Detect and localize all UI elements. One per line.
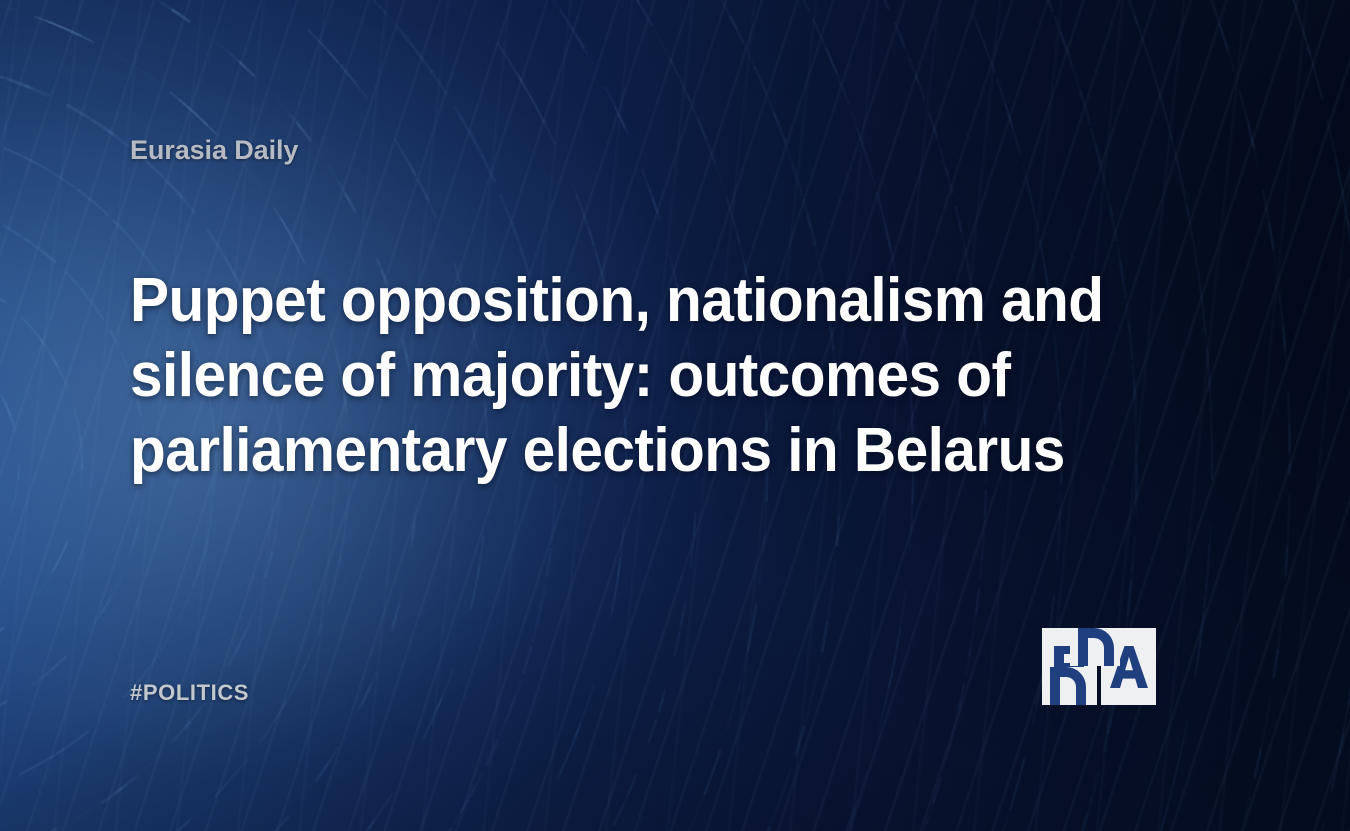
ead-logo[interactable] <box>1042 628 1238 705</box>
logo-tile-d-bottom <box>1042 667 1120 705</box>
logo-tile-d-top <box>1042 628 1120 666</box>
category-tag-politics[interactable]: #POLITICS <box>130 680 249 706</box>
logo-tile-d-split <box>1160 628 1238 705</box>
card-content: Eurasia Daily Puppet opposition, nationa… <box>0 0 1350 831</box>
social-share-card: Eurasia Daily Puppet opposition, nationa… <box>0 0 1350 831</box>
site-name: Eurasia Daily <box>130 135 298 166</box>
page-title: Puppet opposition, nationalism and silen… <box>130 263 1179 488</box>
